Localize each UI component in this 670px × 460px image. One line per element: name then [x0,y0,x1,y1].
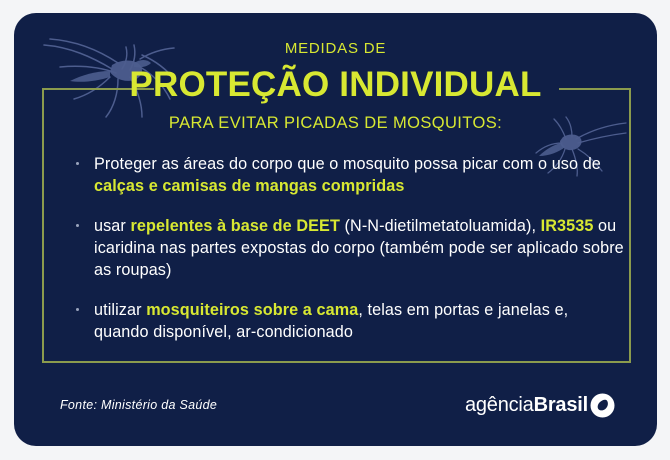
highlighted-phrase: mosquiteiros sobre a cama [146,301,358,319]
highlighted-phrase: IR3535 [541,217,594,235]
infographic-card: MEDIDAS DE PROTEÇÃO INDIVIDUAL PARA EVIT… [14,13,657,446]
plain-phrase: (N-N-dietilmetatoluamida), [340,217,541,235]
plain-phrase: utilizar [94,301,146,319]
measures-list: Proteger as áreas do corpo que o mosquit… [64,153,624,344]
plain-phrase: usar [94,217,131,235]
frame-bottom-edge [42,361,631,363]
infographic-stage: MEDIDAS DE PROTEÇÃO INDIVIDUAL PARA EVIT… [0,0,670,460]
highlighted-phrase: repelentes à base de DEET [131,217,340,235]
source-attribution: Fonte: Ministério da Saúde [60,398,217,412]
page-title: PROTEÇÃO INDIVIDUAL [14,67,657,102]
bullet-dot-icon [76,162,79,165]
list-item: usar repelentes à base de DEET (N-N-diet… [64,215,624,282]
subtitle-text: PARA EVITAR PICADAS DE MOSQUITOS: [14,115,657,132]
bullet-dot-icon [76,308,79,311]
bullet-dot-icon [76,224,79,227]
logo-text-brasil: Brasil [534,394,588,417]
logo-text-agencia: agência [465,394,534,417]
footer-block: Fonte: Ministério da Saúde agência Brasi… [14,376,657,446]
plain-phrase: Proteger as áreas do corpo que o mosquit… [94,155,601,173]
globe-circle-icon [590,393,615,418]
list-item-text: usar repelentes à base de DEET (N-N-diet… [94,217,624,280]
header-block: MEDIDAS DE PROTEÇÃO INDIVIDUAL PARA EVIT… [14,13,657,132]
list-item-text: utilizar mosquiteiros sobre a cama, tela… [94,301,568,341]
list-item-text: Proteger as áreas do corpo que o mosquit… [94,155,601,195]
kicker-text: MEDIDAS DE [14,41,657,56]
list-item: Proteger as áreas do corpo que o mosquit… [64,153,624,198]
agencia-brasil-logo[interactable]: agência Brasil [465,390,615,420]
list-item: utilizar mosquiteiros sobre a cama, tela… [64,299,624,344]
highlighted-phrase: calças e camisas de mangas compridas [94,177,404,195]
